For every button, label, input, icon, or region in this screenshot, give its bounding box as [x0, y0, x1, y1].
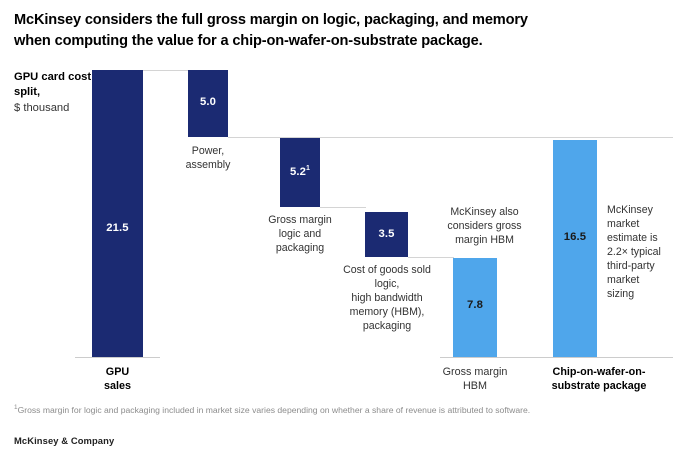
bar-gpu-sales[interactable]: 21.5	[92, 70, 143, 357]
bar-power-assembly[interactable]: 5.0	[188, 70, 228, 137]
annotation-market-estimate-line-3: estimate is	[607, 231, 687, 245]
connector-line-1	[143, 70, 189, 71]
bar-caption-gross-margin-logic-line-2: logic and	[250, 227, 350, 241]
footnote-marker-gross-margin: 1	[306, 165, 310, 172]
category-label-cowos-package-line-1: Chip-on-wafer-on-	[524, 365, 674, 379]
footnote-text: Gross margin for logic and packaging inc…	[18, 405, 531, 415]
brand-mckinsey: McKinsey & Company	[14, 435, 114, 446]
chart-page: McKinsey considers the full gross margin…	[0, 0, 700, 461]
bar-caption-cogs-line-5: packaging	[329, 319, 445, 333]
annotation-market-estimate-line-2: market	[607, 217, 687, 231]
connector-line-4	[408, 257, 454, 258]
category-label-cowos-package: Chip-on-wafer-on- substrate package	[524, 365, 674, 394]
category-label-gross-margin-hbm-line-1: Gross margin	[430, 365, 520, 379]
bar-caption-gross-margin-logic: Gross margin logic and packaging	[250, 213, 350, 255]
annotation-hbm-note-line-1: McKinsey also	[432, 205, 537, 219]
annotation-market-estimate: McKinsey market estimate is 2.2× typical…	[607, 203, 687, 302]
bar-caption-cogs-line-4: memory (HBM),	[329, 305, 445, 319]
bar-caption-cogs-line-1: Cost of goods sold	[329, 263, 445, 277]
annotation-market-estimate-line-6: market	[607, 273, 687, 287]
waterfall-chart: 21.5 5.0 5.21 3.5 7.8 16.5 Power, assemb…	[0, 0, 700, 400]
category-label-cowos-package-line-2: substrate package	[524, 379, 674, 393]
bar-value-gross-margin-logic-number: 5.2	[290, 166, 306, 178]
connector-line-3	[320, 207, 366, 208]
bar-value-power-assembly: 5.0	[188, 96, 228, 108]
annotation-market-estimate-line-1: McKinsey	[607, 203, 687, 217]
annotation-hbm-note: McKinsey also considers gross margin HBM	[432, 205, 537, 247]
category-label-gross-margin-hbm-line-2: HBM	[430, 379, 520, 393]
bar-caption-gross-margin-logic-line-3: packaging	[250, 241, 350, 255]
bar-caption-power-assembly-line-1: Power,	[163, 144, 253, 158]
bar-value-gpu-sales: 21.5	[92, 222, 143, 234]
annotation-market-estimate-line-7: sizing	[607, 287, 687, 301]
bar-value-gross-margin-hbm: 7.8	[453, 299, 497, 311]
annotation-hbm-note-line-2: considers gross	[432, 219, 537, 233]
bar-value-cowos-package: 16.5	[553, 231, 597, 243]
footnote: 1Gross margin for logic and packaging in…	[14, 405, 686, 416]
category-label-gpu-sales-line-1: GPU	[77, 365, 158, 379]
category-label-gpu-sales-line-2: sales	[77, 379, 158, 393]
baseline-left	[75, 357, 160, 358]
annotation-hbm-note-line-3: margin HBM	[432, 233, 537, 247]
bar-gross-margin-logic[interactable]: 5.21	[280, 138, 320, 207]
bar-value-cogs: 3.5	[365, 228, 408, 240]
bar-gross-margin-hbm[interactable]: 7.8	[453, 258, 497, 357]
annotation-market-estimate-line-5: third-party	[607, 259, 687, 273]
bar-caption-cogs-line-2: logic,	[329, 277, 445, 291]
bar-cowos-package[interactable]: 16.5	[553, 140, 597, 357]
baseline-right	[440, 357, 673, 358]
bar-caption-cogs-line-3: high bandwidth	[329, 291, 445, 305]
bar-value-gross-margin-logic: 5.21	[280, 166, 320, 178]
bar-caption-gross-margin-logic-line-1: Gross margin	[250, 213, 350, 227]
bar-caption-power-assembly: Power, assembly	[163, 144, 253, 172]
category-label-gross-margin-hbm: Gross margin HBM	[430, 365, 520, 394]
annotation-market-estimate-line-4: 2.2× typical	[607, 245, 687, 259]
category-label-gpu-sales: GPU sales	[77, 365, 158, 394]
bar-cogs[interactable]: 3.5	[365, 212, 408, 257]
bar-caption-power-assembly-line-2: assembly	[163, 158, 253, 172]
bar-caption-cogs: Cost of goods sold logic, high bandwidth…	[329, 263, 445, 333]
